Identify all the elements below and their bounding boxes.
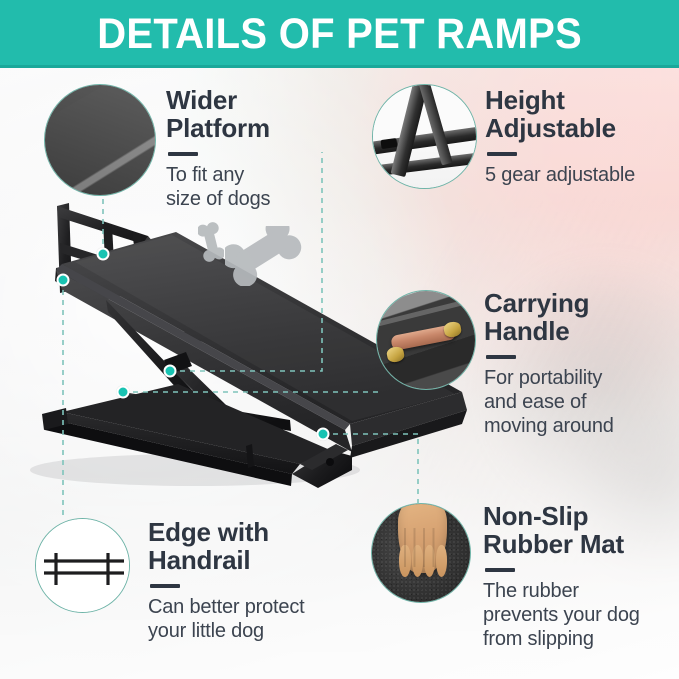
feature-image-edge-handrail (35, 518, 130, 613)
feature-edge-with-handrail: Edge with Handrail Can better protect yo… (35, 518, 365, 658)
header-banner: DETAILS OF PET RAMPS (0, 0, 679, 68)
marker-height-adjustable (164, 365, 177, 378)
feature-body-wider-platform: To fit any size of dogs (166, 163, 366, 211)
bone-large-icon (225, 226, 303, 286)
feature-image-rubber-mat (371, 503, 471, 603)
handrail-icon (36, 519, 130, 613)
feature-body-carrying-handle: For portability and ease of moving aroun… (484, 366, 679, 438)
header-underline (0, 65, 679, 68)
feature-title-edge-handrail: Edge with Handrail (148, 519, 363, 575)
title-divider (487, 152, 517, 156)
title-divider (486, 355, 516, 359)
title-divider (485, 568, 515, 572)
feature-wider-platform: Wider Platform To fit any size of dogs (44, 84, 364, 199)
feature-image-carrying-handle (376, 290, 476, 390)
feature-body-rubber-mat: The rubber prevents your dog from slippi… (483, 579, 679, 651)
marker-edge-handrail (57, 274, 70, 287)
marker-wider-platform (97, 248, 110, 261)
rubber-mat-paw-photo (372, 504, 470, 602)
feature-carrying-handle: Carrying Handle For portability and ease… (376, 290, 676, 450)
title-divider (168, 152, 198, 156)
infographic-canvas: DETAILS OF PET RAMPS (0, 0, 679, 679)
marker-rubber-mat (317, 428, 330, 441)
feature-body-height-adjustable: 5 gear adjustable (485, 163, 679, 187)
bone-small-icon (198, 222, 224, 262)
feature-height-adjustable: Height Adjustable 5 gear adjustable (372, 84, 672, 199)
feature-title-carrying-handle: Carrying Handle (484, 290, 679, 346)
platform-closeup-photo (45, 85, 155, 195)
feature-image-wider-platform (44, 84, 156, 196)
marker-carrying-handle (117, 386, 130, 399)
feature-title-rubber-mat: Non-Slip Rubber Mat (483, 503, 679, 559)
feature-title-height-adjustable: Height Adjustable (485, 87, 679, 143)
carrying-handle-closeup-photo (377, 291, 475, 389)
page-title: DETAILS OF PET RAMPS (97, 13, 582, 56)
feature-image-height-adjustable (372, 84, 477, 189)
title-divider (150, 584, 180, 588)
height-mechanism-closeup-photo (373, 85, 476, 188)
feature-body-edge-handrail: Can better protect your little dog (148, 595, 363, 643)
handrail-line-drawing (36, 519, 129, 612)
dog-paw (398, 503, 447, 573)
feature-non-slip-rubber-mat: Non-Slip Rubber Mat The rubber prevents … (371, 503, 676, 663)
feature-title-wider-platform: Wider Platform (166, 87, 366, 143)
